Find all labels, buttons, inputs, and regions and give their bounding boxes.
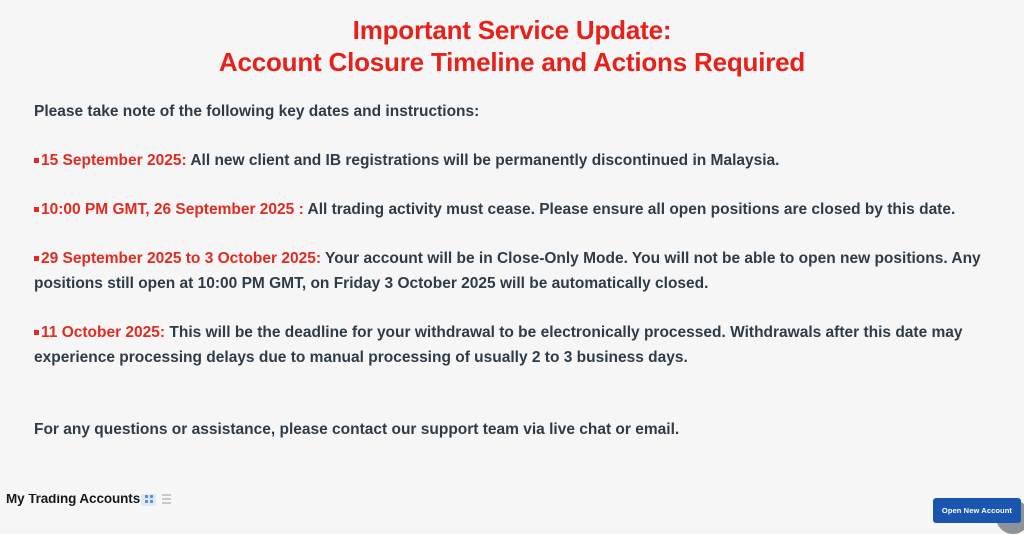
open-new-account-button[interactable]: Open New Account	[933, 498, 1021, 523]
notice-closing: For any questions or assistance, please …	[34, 418, 994, 441]
bullet-square-icon	[34, 158, 39, 163]
notice-item-body: This will be the deadline for your withd…	[34, 324, 963, 366]
notice-item: 15 September 2025: All new client and IB…	[34, 148, 990, 173]
notice-item: 10:00 PM GMT, 26 September 2025 : All tr…	[34, 197, 990, 222]
notice-item-body: All trading activity must cease. Please …	[304, 201, 956, 218]
bullet-square-icon	[34, 330, 39, 335]
notice-item-date: 10:00 PM GMT, 26 September 2025 :	[41, 201, 304, 218]
grid-view-glyph	[145, 495, 153, 503]
page-root: My Trading Accounts	[0, 0, 1024, 528]
notice-item: 11 October 2025: This will be the deadli…	[34, 320, 990, 370]
list-view-glyph	[162, 494, 171, 504]
notice-item-date: 29 September 2025 to 3 October 2025:	[41, 250, 321, 267]
notice-intro: Please take note of the following key da…	[34, 100, 994, 123]
notice-item-body: All new client and IB registrations will…	[187, 152, 780, 169]
notice-title-line-1: Important Service Update:	[353, 15, 672, 45]
service-update-notice: Important Service Update: Account Closur…	[0, 0, 1024, 494]
notice-title-line-2: Account Closure Timeline and Actions Req…	[40, 46, 984, 78]
notice-item: 29 September 2025 to 3 October 2025: You…	[34, 246, 990, 296]
bullet-square-icon	[34, 207, 39, 212]
notice-item-date: 11 October 2025:	[41, 324, 165, 341]
notice-item-date: 15 September 2025:	[41, 152, 187, 169]
bullet-square-icon	[34, 256, 39, 261]
notice-title: Important Service Update: Account Closur…	[30, 14, 994, 78]
